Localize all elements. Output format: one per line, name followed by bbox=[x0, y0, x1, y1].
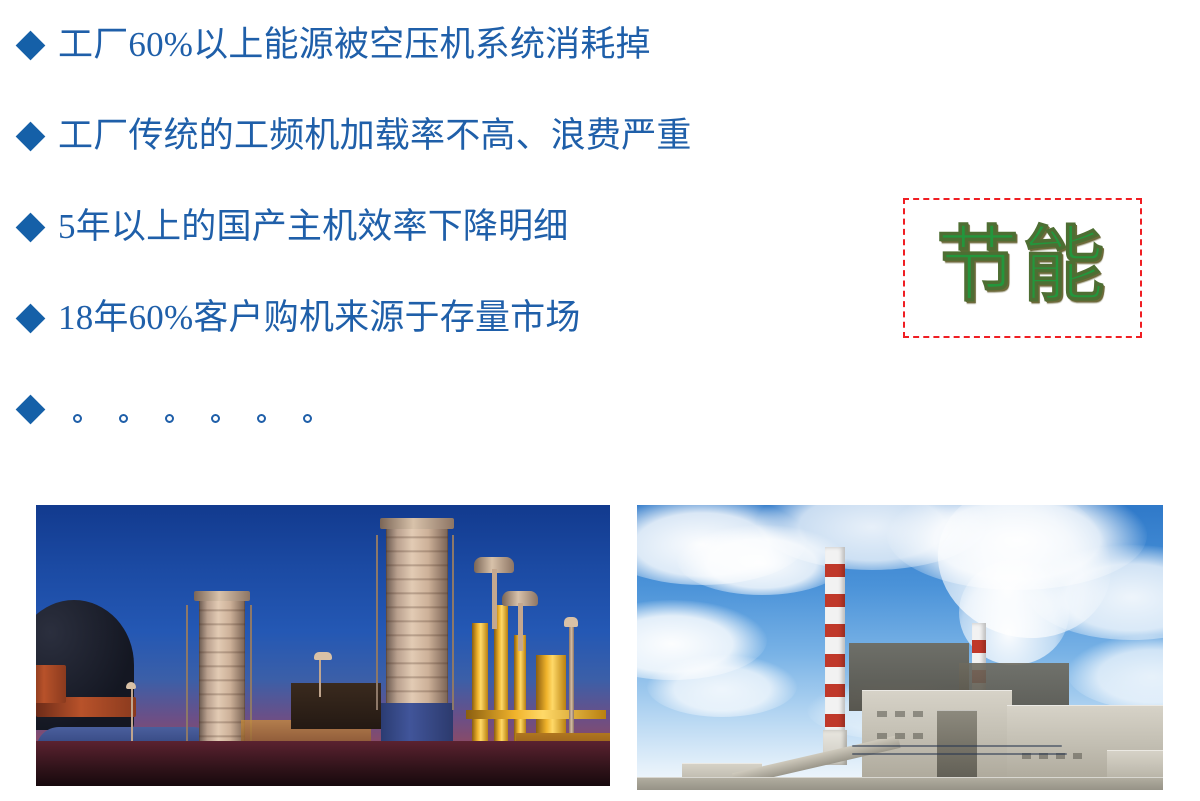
window bbox=[913, 733, 923, 739]
energy-saving-label: 节能 bbox=[936, 225, 1108, 311]
refinery-photo bbox=[36, 505, 610, 786]
slide-canvas: 工厂60%以上能源被空压机系统消耗掉 工厂传统的工频机加载率不高、浪费严重 5年… bbox=[0, 0, 1200, 801]
power-line bbox=[852, 745, 1062, 747]
tower-ladder bbox=[186, 605, 188, 755]
bullet-text-1: 工厂60%以上能源被空压机系统消耗掉 bbox=[58, 25, 651, 65]
bullet-text-4: 18年60%客户购机来源于存量市场 bbox=[58, 298, 581, 338]
ellipsis-dot bbox=[303, 414, 312, 423]
light-mast bbox=[131, 687, 133, 747]
light-mast-head bbox=[314, 652, 332, 660]
diamond-bullet-icon bbox=[18, 395, 48, 425]
power-plant-scene bbox=[637, 505, 1163, 790]
window bbox=[913, 711, 923, 717]
power-line bbox=[852, 753, 1067, 755]
window bbox=[877, 733, 887, 739]
plant-clutter bbox=[291, 683, 381, 729]
window bbox=[877, 711, 887, 717]
ellipsis-dot bbox=[211, 414, 220, 423]
power-plant-photo bbox=[637, 505, 1163, 790]
ellipsis-dot bbox=[73, 414, 82, 423]
ellipsis-dot bbox=[257, 414, 266, 423]
window bbox=[1073, 753, 1082, 759]
bullet-text-3: 5年以上的国产主机效率下降明细 bbox=[58, 207, 569, 247]
window bbox=[895, 733, 905, 739]
bullet-item-5 bbox=[18, 376, 878, 442]
tower-ladder bbox=[376, 535, 378, 710]
tower-cap bbox=[194, 591, 250, 601]
orange-pipe-run bbox=[36, 665, 66, 703]
diamond-bullet-icon bbox=[18, 31, 48, 61]
bullet-text-2: 工厂传统的工频机加载率不高、浪费严重 bbox=[58, 116, 692, 156]
yellow-pipe-run bbox=[466, 710, 606, 719]
window bbox=[895, 711, 905, 717]
bullet-list: 工厂60%以上能源被空压机系统消耗掉 工厂传统的工频机加载率不高、浪费严重 5年… bbox=[18, 12, 878, 442]
ground-structures bbox=[637, 777, 1163, 790]
stack-column bbox=[518, 603, 523, 651]
diamond-bullet-icon bbox=[18, 304, 48, 334]
ellipsis-dots bbox=[58, 414, 312, 423]
distillation-tower-main bbox=[386, 525, 448, 710]
ground-silhouette bbox=[36, 741, 610, 786]
cloud bbox=[647, 655, 797, 717]
energy-saving-callout-box: 节能 bbox=[903, 198, 1142, 338]
ellipsis-dot bbox=[119, 414, 128, 423]
bullet-item-2: 工厂传统的工频机加载率不高、浪费严重 bbox=[18, 103, 878, 169]
bullet-item-4: 18年60%客户购机来源于存量市场 bbox=[18, 285, 878, 351]
light-mast bbox=[319, 657, 321, 697]
refinery-scene bbox=[36, 505, 610, 786]
diamond-bullet-icon bbox=[18, 213, 48, 243]
tower-cap bbox=[380, 518, 454, 529]
bullet-item-3: 5年以上的国产主机效率下降明细 bbox=[18, 194, 878, 260]
diamond-bullet-icon bbox=[18, 122, 48, 152]
stack-column bbox=[492, 569, 497, 629]
chimney-striped-left bbox=[825, 547, 845, 732]
distillation-tower-left bbox=[199, 598, 245, 758]
tower-ladder bbox=[452, 535, 454, 710]
slim-stack-head bbox=[564, 617, 578, 627]
light-mast-head bbox=[126, 682, 136, 689]
bullet-item-1: 工厂60%以上能源被空压机系统消耗掉 bbox=[18, 12, 878, 78]
ellipsis-dot bbox=[165, 414, 174, 423]
